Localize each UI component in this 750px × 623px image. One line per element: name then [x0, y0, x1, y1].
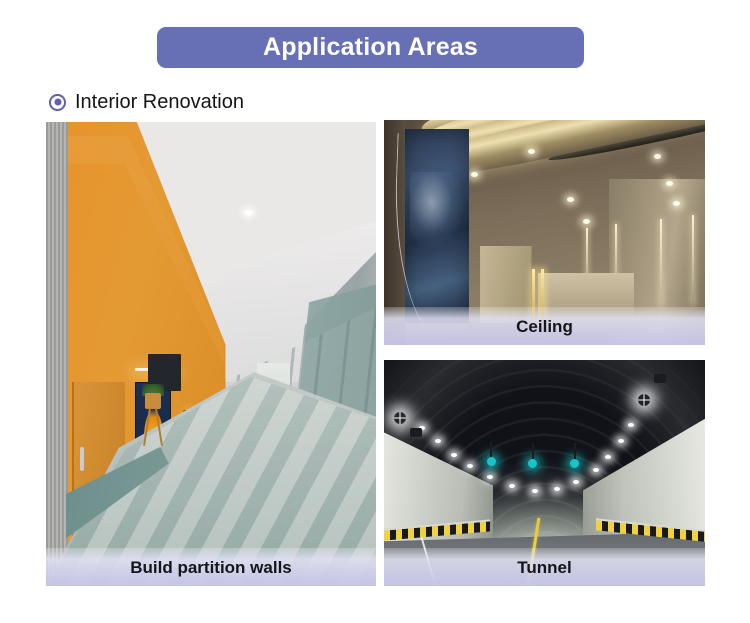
application-areas-page: Application Areas Interior Renovation [0, 0, 750, 623]
caption-band-interior: Build partition walls [46, 548, 376, 586]
image-card-interior[interactable]: Build partition walls [46, 122, 376, 586]
section-heading: Interior Renovation [49, 92, 244, 112]
corridor-photo [46, 122, 376, 586]
caption-text-tunnel: Tunnel [517, 559, 571, 576]
page-title-banner: Application Areas [157, 27, 584, 68]
caption-text-interior: Build partition walls [130, 559, 292, 576]
section-heading-label: Interior Renovation [75, 92, 244, 112]
caption-text-ceiling: Ceiling [516, 318, 573, 335]
caption-band-ceiling: Ceiling [384, 307, 705, 345]
image-card-tunnel[interactable]: Tunnel [384, 360, 705, 586]
radio-filled-icon [49, 94, 66, 111]
image-card-ceiling[interactable]: Ceiling [384, 120, 705, 345]
page-title: Application Areas [263, 35, 478, 60]
caption-band-tunnel: Tunnel [384, 548, 705, 586]
